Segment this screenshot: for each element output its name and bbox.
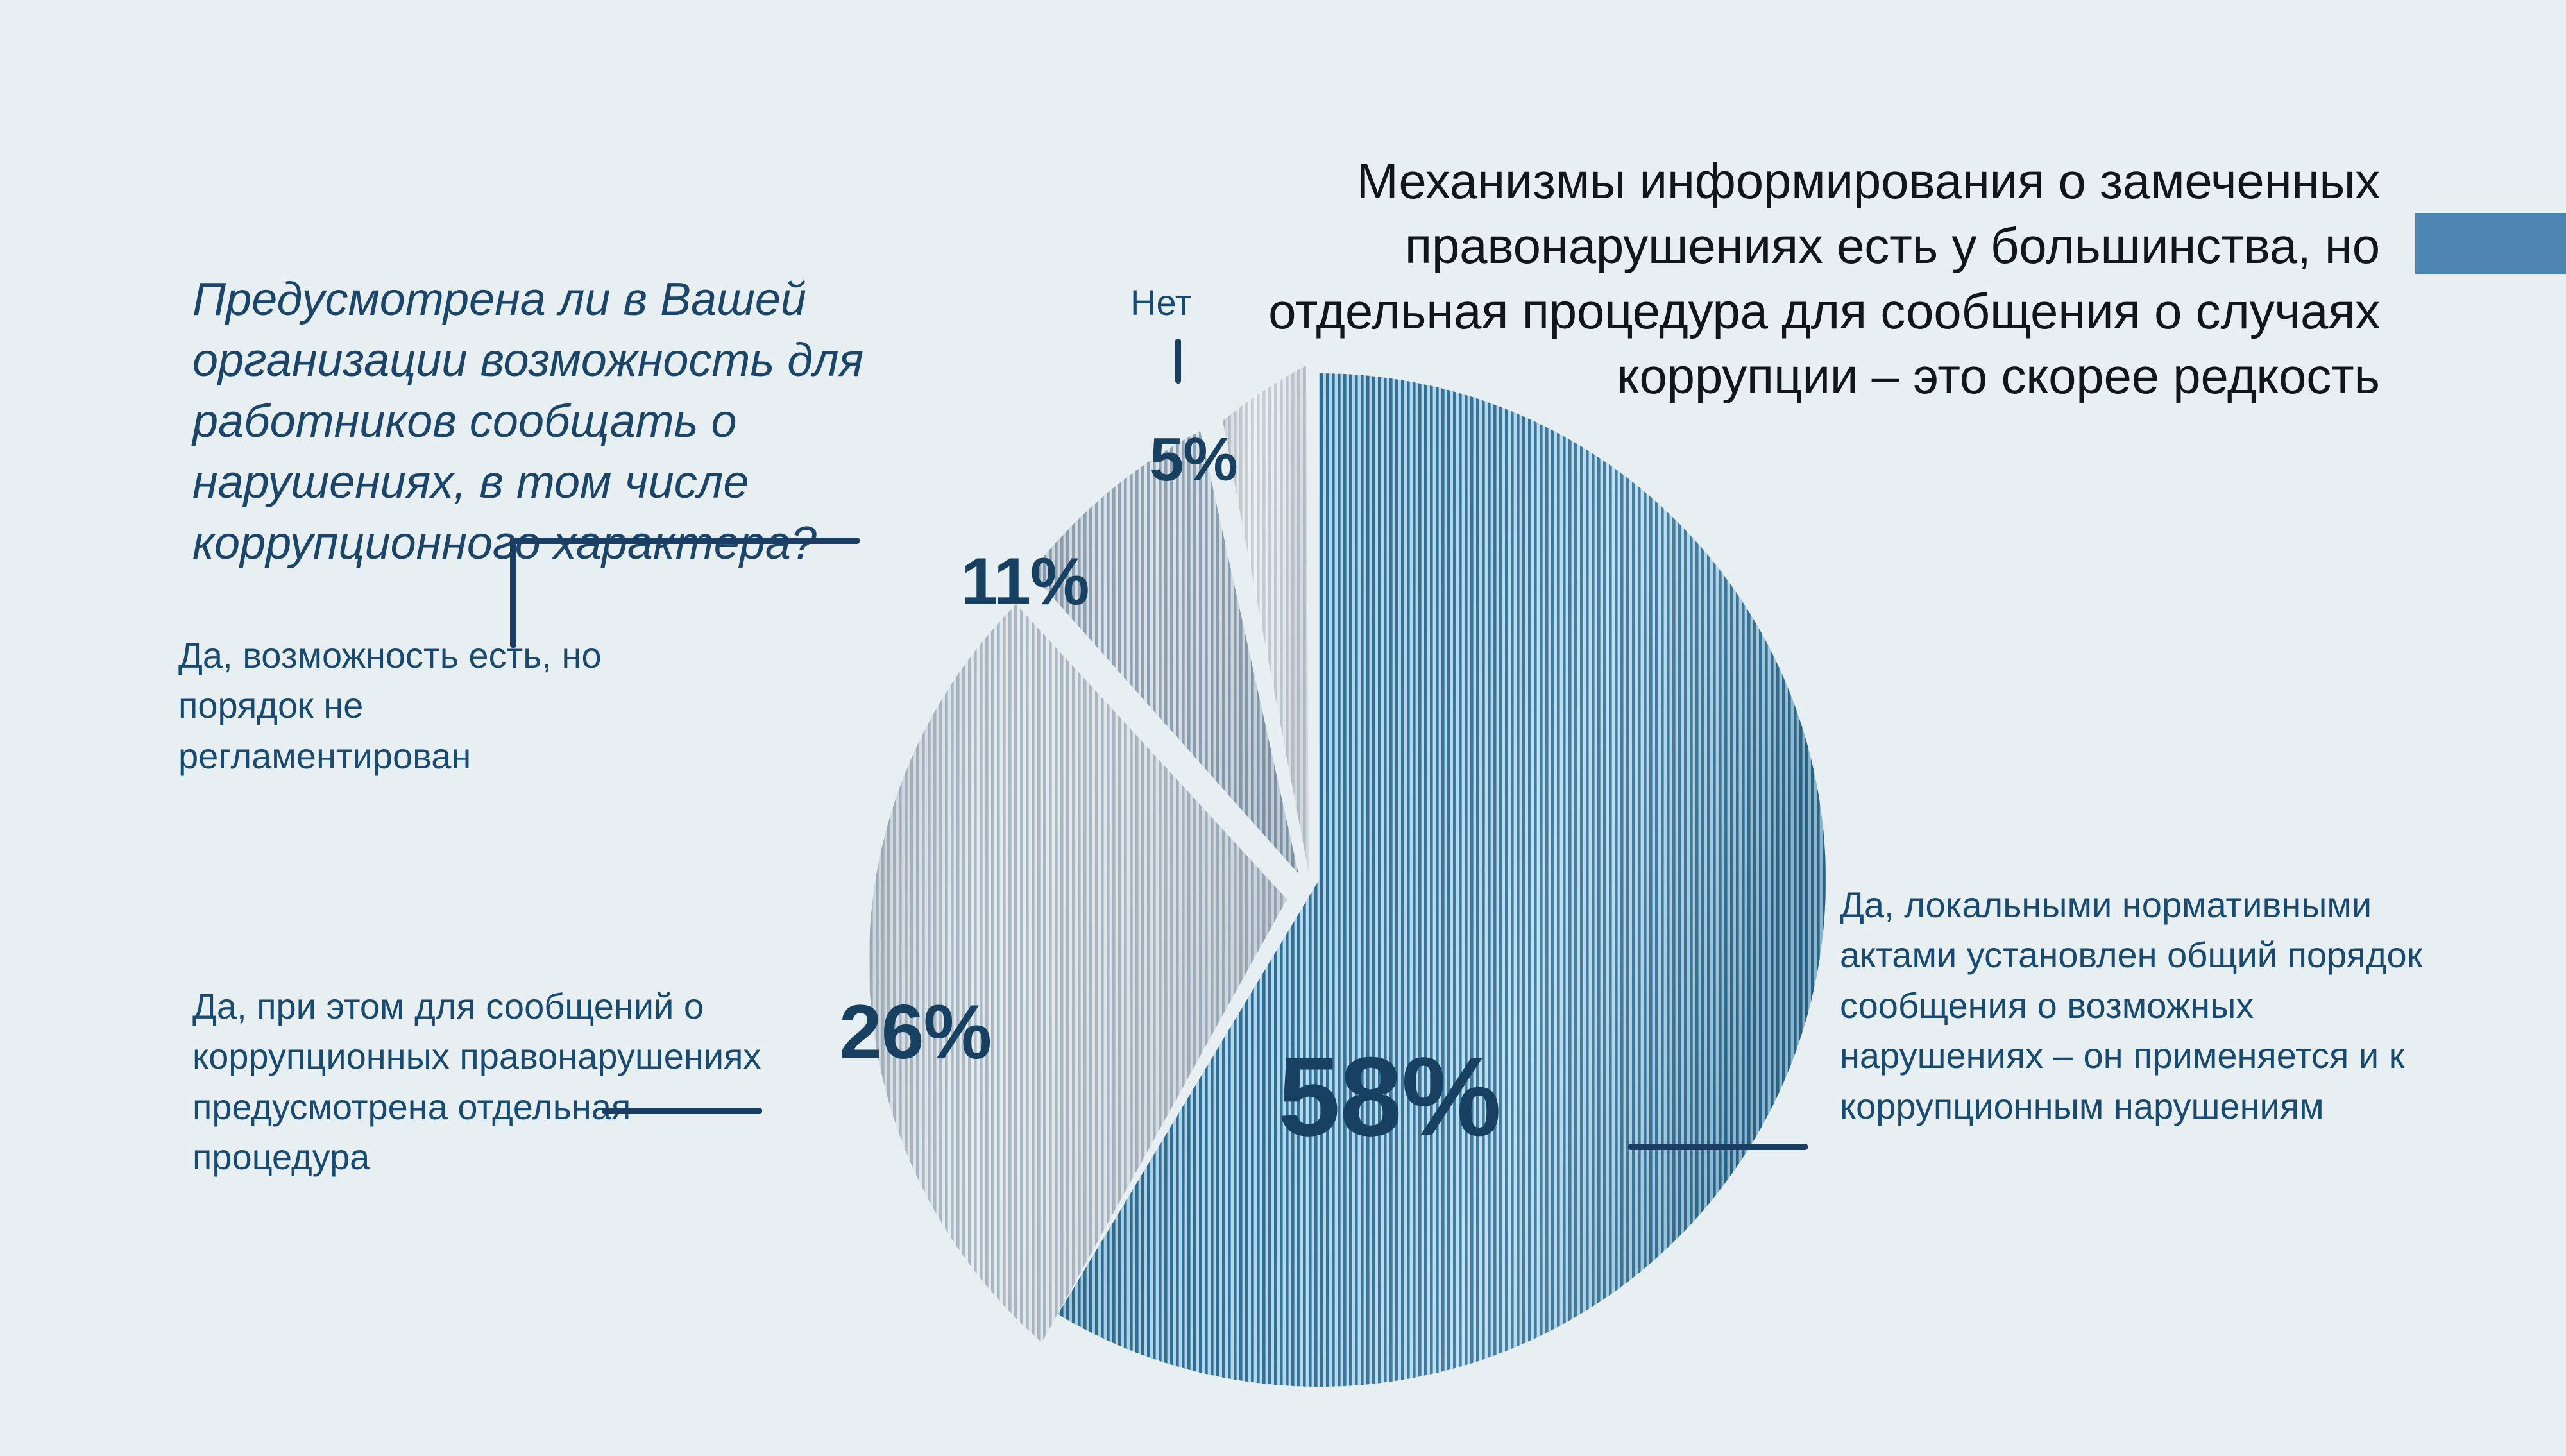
- slice-value-5: 5%: [1150, 425, 1237, 495]
- callout-label-unregulated: Да, возможность есть, но порядок не регл…: [178, 631, 627, 781]
- callout-label-separate-procedure: Да, при этом для сообщений о коррупционн…: [192, 981, 770, 1183]
- callout-label-no: Нет: [1130, 281, 1191, 324]
- accent-bar: [2415, 213, 2566, 274]
- slide-canvas: Механизмы информирования о замеченных пр…: [0, 0, 2566, 1443]
- pie-svg: [731, 301, 1886, 1456]
- slice-value-26: 26%: [839, 988, 991, 1076]
- callout-label-general-order: Да, локальными нормативными актами устан…: [1840, 880, 2430, 1131]
- leader-line-no: [1175, 339, 1181, 384]
- pie-chart: [731, 301, 1886, 1456]
- leader-line-unregulated-vertical: [510, 538, 516, 648]
- slice-value-58: 58%: [1278, 1033, 1500, 1162]
- leader-line-general-order: [1628, 1144, 1808, 1150]
- leader-line-unregulated-horizontal: [510, 538, 860, 544]
- leader-line-separate-procedure: [602, 1108, 762, 1114]
- slice-value-11: 11%: [961, 544, 1089, 620]
